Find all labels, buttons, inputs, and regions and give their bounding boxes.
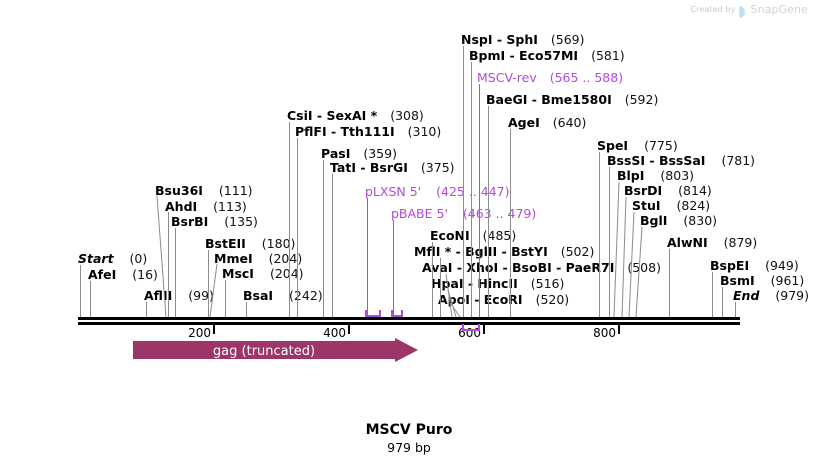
feature-bracket-pbabe[interactable] bbox=[391, 310, 403, 317]
site-label-nspi-sphi[interactable]: NspI - SphI (569) bbox=[461, 34, 585, 47]
leader-line-mscvrev bbox=[479, 84, 480, 317]
leader-line-nspi bbox=[463, 46, 464, 317]
site-label-end[interactable]: End (979) bbox=[733, 290, 809, 303]
site-label-bsteii[interactable]: BstEII (180) bbox=[205, 238, 295, 251]
leader-line-ahdi bbox=[168, 212, 169, 317]
ruler-label-800: 800 bbox=[593, 326, 616, 340]
site-label-start[interactable]: Start (0) bbox=[78, 253, 147, 266]
site-position: (781) bbox=[721, 153, 755, 168]
leader-line-bsteii bbox=[208, 250, 209, 317]
site-enzymes: BaeGI - Bme1580I bbox=[486, 92, 612, 107]
leader-line-afei bbox=[90, 281, 91, 317]
site-label-bsmi[interactable]: BsmI (961) bbox=[720, 275, 804, 288]
credit-prefix: Created by bbox=[690, 5, 735, 14]
site-label-pflfi-tth111i[interactable]: PflFI - Tth111I (310) bbox=[295, 126, 441, 139]
leader-line-pbabe bbox=[393, 220, 394, 317]
site-position: (180) bbox=[262, 236, 296, 251]
site-enzymes: AvaI - XhoI - BsoBI - PaeR7I bbox=[422, 260, 614, 275]
site-position: (961) bbox=[771, 273, 805, 288]
feature-label-mscv-rev[interactable]: MSCV-rev (565 .. 588) bbox=[477, 72, 623, 85]
site-label-afei[interactable]: AfeI (16) bbox=[88, 269, 158, 282]
site-position: (814) bbox=[678, 183, 712, 198]
leader-line-aflii bbox=[146, 302, 147, 317]
ruler-axis-main bbox=[78, 317, 740, 320]
site-position: (592) bbox=[625, 92, 659, 107]
site-enzymes: SpeI bbox=[597, 138, 628, 153]
leader-line-bgli bbox=[636, 227, 652, 317]
ruler-tick-400 bbox=[348, 325, 350, 334]
site-enzymes: AlwNI bbox=[667, 235, 708, 250]
site-label-tati-bsrgi[interactable]: TatI - BsrGI (375) bbox=[330, 162, 455, 175]
ruler-tick-800 bbox=[618, 325, 620, 334]
site-enzymes: StuI bbox=[632, 198, 661, 213]
feature-range: (463 .. 479) bbox=[463, 206, 536, 221]
site-label-msci[interactable]: MscI (204) bbox=[222, 268, 304, 281]
feature-name: MSCV-rev bbox=[477, 70, 537, 85]
leader-line-plxsn bbox=[367, 198, 368, 317]
leader-line-pflfi bbox=[297, 138, 298, 317]
plasmid-length: 979 bp bbox=[0, 440, 818, 455]
leader-line-pasi bbox=[323, 160, 324, 317]
snapgene-credit: Created by SnapGene bbox=[690, 3, 808, 16]
site-label-bspei[interactable]: BspEI (949) bbox=[710, 260, 799, 273]
site-enzymes: BlpI bbox=[617, 168, 644, 183]
feature-name: pLXSN 5' bbox=[365, 184, 421, 199]
leader-line-alwni bbox=[669, 249, 670, 317]
leader-line-tati bbox=[332, 174, 333, 317]
gene-label-gag: gag (truncated) bbox=[133, 344, 395, 359]
leader-line-start bbox=[80, 265, 81, 317]
site-label-pasi[interactable]: PasI (359) bbox=[321, 148, 397, 161]
leader-line-econi bbox=[432, 242, 433, 317]
site-enzymes: BsaI bbox=[243, 288, 273, 303]
site-label-blpi[interactable]: BlpI (803) bbox=[617, 170, 694, 183]
leader-line-baegi bbox=[488, 106, 489, 317]
site-position: (581) bbox=[591, 48, 625, 63]
leader-line-apoi bbox=[448, 304, 468, 317]
ruler-tick-200 bbox=[213, 325, 215, 334]
feature-range: (425 .. 447) bbox=[436, 184, 509, 199]
site-position: (569) bbox=[551, 32, 585, 47]
site-position: (520) bbox=[536, 292, 570, 307]
site-label-bgli[interactable]: BglI (830) bbox=[640, 215, 717, 228]
site-position: (803) bbox=[660, 168, 694, 183]
site-enzymes: PflFI - Tth111I bbox=[295, 124, 395, 139]
start-label: Start bbox=[78, 251, 114, 266]
site-label-bsrbi[interactable]: BsrBI (135) bbox=[171, 216, 258, 229]
site-position: (308) bbox=[390, 108, 424, 123]
feature-bracket-plxsn[interactable] bbox=[365, 310, 381, 317]
leader-line-msci bbox=[225, 280, 226, 317]
feature-range: (565 .. 588) bbox=[550, 70, 623, 85]
site-enzymes: BspEI bbox=[710, 258, 749, 273]
site-position: (830) bbox=[683, 213, 717, 228]
site-position: (375) bbox=[421, 160, 455, 175]
leader-line-bsrbi bbox=[175, 228, 176, 317]
site-label-csii-sexai[interactable]: CsiI - SexAI * (308) bbox=[287, 110, 424, 123]
site-position: (949) bbox=[765, 258, 799, 273]
site-position: (113) bbox=[213, 199, 247, 214]
snapgene-leaf-icon bbox=[739, 3, 746, 16]
site-enzymes: BglI bbox=[640, 213, 667, 228]
site-enzymes: BsrBI bbox=[171, 214, 208, 229]
site-position: (135) bbox=[224, 214, 258, 229]
site-position: (242) bbox=[289, 288, 323, 303]
site-position: (979) bbox=[775, 288, 809, 303]
site-enzymes: CsiI - SexAI * bbox=[287, 108, 377, 123]
site-label-mfli-bglii-bstyi[interactable]: MflI * - BglII - BstYI (502) bbox=[414, 246, 594, 259]
site-label-ahdi[interactable]: AhdI (113) bbox=[165, 201, 247, 214]
site-enzymes: BsmI bbox=[720, 273, 755, 288]
leader-line-bsmi bbox=[722, 287, 723, 317]
site-enzymes: AgeI bbox=[508, 115, 540, 130]
site-position: (640) bbox=[553, 115, 587, 130]
site-position: (775) bbox=[644, 138, 678, 153]
site-enzymes: NspI - SphI bbox=[461, 32, 538, 47]
site-position: (516) bbox=[531, 276, 565, 291]
credit-brand: SnapGene bbox=[750, 3, 808, 16]
leader-line-agei bbox=[510, 129, 511, 317]
site-label-bsssi-bsssai[interactable]: BssSI - BssSaI (781) bbox=[607, 155, 755, 168]
leader-line-mmei bbox=[210, 264, 232, 317]
site-enzymes: PasI bbox=[321, 146, 350, 161]
end-label: End bbox=[733, 288, 759, 303]
site-enzymes: BpmI - Eco57MI bbox=[469, 48, 578, 63]
leader-line-end bbox=[735, 302, 736, 317]
leader-line-csii bbox=[289, 122, 290, 317]
feature-bracket-mscv-rev[interactable] bbox=[462, 324, 480, 331]
site-position: (502) bbox=[561, 244, 595, 259]
plasmid-title: MSCV Puro bbox=[0, 422, 818, 438]
site-position: (824) bbox=[677, 198, 711, 213]
ruler-axis-shadow bbox=[78, 322, 740, 325]
leader-line-bpmi bbox=[471, 62, 472, 317]
site-position: (359) bbox=[363, 146, 397, 161]
site-position: (879) bbox=[724, 235, 758, 250]
site-enzymes: BssSI - BssSaI bbox=[607, 153, 705, 168]
leader-line-bsu36i bbox=[150, 196, 174, 317]
site-label-bpmi-eco57mi[interactable]: BpmI - Eco57MI (581) bbox=[469, 50, 625, 63]
leader-line-spei bbox=[599, 152, 600, 317]
site-label-stui[interactable]: StuI (824) bbox=[632, 200, 710, 213]
site-label-agei[interactable]: AgeI (640) bbox=[508, 117, 586, 130]
site-position: (310) bbox=[408, 124, 442, 139]
leader-line-bsai bbox=[246, 302, 247, 317]
site-label-alwni[interactable]: AlwNI (879) bbox=[667, 237, 757, 250]
site-enzymes: TatI - BsrGI bbox=[330, 160, 408, 175]
leader-line-bsssi bbox=[609, 167, 610, 317]
site-label-baegi-bme1580i[interactable]: BaeGI - Bme1580I (592) bbox=[486, 94, 658, 107]
site-position: (111) bbox=[219, 183, 253, 198]
site-enzymes: BsrDI bbox=[624, 183, 662, 198]
site-enzymes: MflI * - BglII - BstYI bbox=[414, 244, 548, 259]
ruler-tick-600 bbox=[483, 325, 485, 334]
site-position: (0) bbox=[130, 251, 148, 266]
site-enzymes: AfeI bbox=[88, 267, 116, 282]
leader-line-bspei bbox=[712, 272, 713, 317]
plasmid-map-canvas: Created by SnapGene NspI - SphI (569) Bp… bbox=[0, 0, 818, 460]
site-position: (204) bbox=[270, 266, 304, 281]
feature-name: pBABE 5' bbox=[391, 206, 448, 221]
site-label-bsai[interactable]: BsaI (242) bbox=[243, 290, 323, 303]
site-label-spei[interactable]: SpeI (775) bbox=[597, 140, 678, 153]
site-enzymes: BstEII bbox=[205, 236, 246, 251]
site-label-bsrdi[interactable]: BsrDI (814) bbox=[624, 185, 712, 198]
site-label-econi[interactable]: EcoNI (485) bbox=[430, 230, 516, 243]
